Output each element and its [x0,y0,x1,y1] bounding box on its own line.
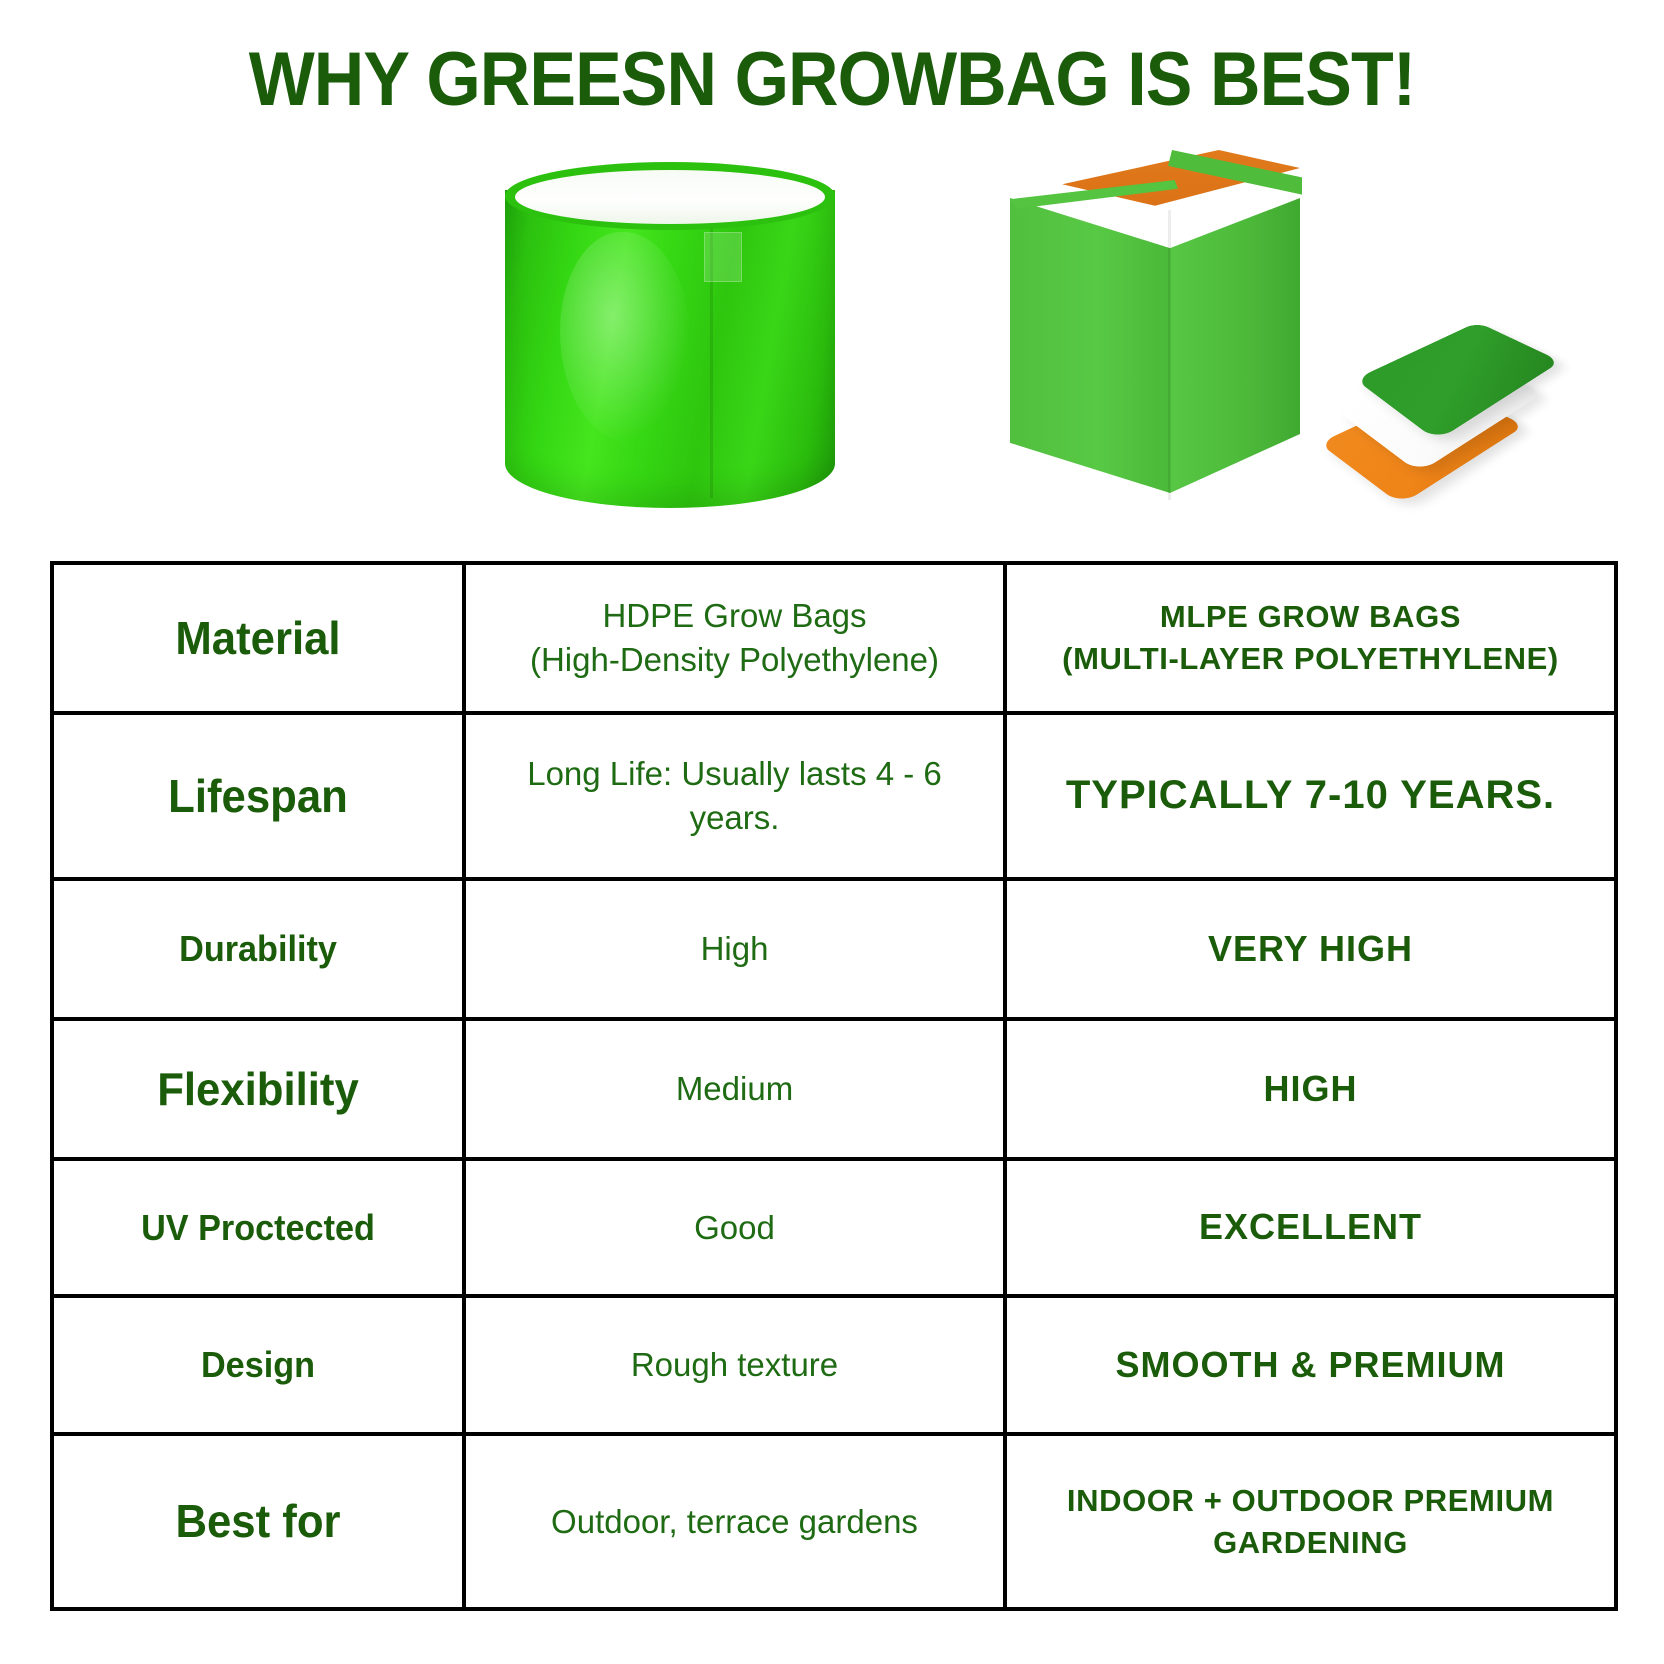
mlpe-value-line1: MLPE GROW BAGS [1021,596,1600,638]
page-title: WHY GREESN GROWBAG IS BEST! [249,42,1415,118]
mlpe-cell-design: SMOOTH & PREMIUM [1005,1296,1616,1434]
table-row-lifespan: Lifespan Long Life: Usually lasts 4 - 6 … [52,713,1616,879]
feature-cell-material: Material [52,563,464,713]
feature-label: Best for [78,1497,439,1545]
square-mlpe-grow-bag-image [1000,150,1305,510]
hdpe-value: High [480,927,989,971]
mlpe-value: EXCELLENT [1021,1203,1600,1251]
feature-cell-durability: Durability [52,879,464,1019]
hdpe-cell-best-for: Outdoor, terrace gardens [464,1434,1005,1609]
mlpe-cell-uv-protected: EXCELLENT [1005,1159,1616,1296]
feature-cell-best-for: Best for [52,1434,464,1609]
hdpe-value-line2: (High-Density Polyethylene) [480,638,989,682]
hdpe-cell-design: Rough texture [464,1296,1005,1434]
mlpe-value-line1: INDOOR + OUTDOOR PREMIUM [1021,1480,1600,1522]
round-hdpe-grow-bag-image [505,162,835,512]
mlpe-cell-lifespan: TYPICALLY 7-10 YEARS. [1005,713,1616,879]
table-row-flexibility: Flexibility Medium HIGH [52,1019,1616,1159]
mlpe-value: SMOOTH & PREMIUM [1021,1341,1600,1389]
grow-bag-inner-lining [515,170,825,224]
feature-label: Flexibility [78,1065,439,1113]
hdpe-cell-durability: High [464,879,1005,1019]
table-row-best-for: Best for Outdoor, terrace gardens INDOOR… [52,1434,1616,1609]
hdpe-value: Rough texture [480,1343,989,1387]
mlpe-value-line2: GARDENING [1021,1522,1600,1564]
hero-images [0,140,1664,560]
mlpe-value: TYPICALLY 7-10 YEARS. [1021,769,1600,823]
hdpe-value-line1: HDPE Grow Bags [480,594,989,638]
title-bar: WHY GREESN GROWBAG IS BEST! [0,42,1664,118]
table-row-uv-protected: UV Proctected Good EXCELLENT [52,1159,1616,1296]
hdpe-value: Good [480,1206,989,1250]
grow-bag-tag [704,232,742,282]
hdpe-cell-material: HDPE Grow Bags (High-Density Polyethylen… [464,563,1005,713]
feature-label: Material [78,614,439,662]
comparison-table: Material HDPE Grow Bags (High-Density Po… [50,561,1618,1611]
feature-label: Lifespan [78,772,439,820]
feature-label: Durability [78,930,439,968]
mlpe-cell-durability: VERY HIGH [1005,879,1616,1019]
table-row-material: Material HDPE Grow Bags (High-Density Po… [52,563,1616,713]
mlpe-cell-best-for: INDOOR + OUTDOOR PREMIUM GARDENING [1005,1434,1616,1609]
multi-layer-fabric-swatches [1328,310,1598,520]
table-row-design: Design Rough texture SMOOTH & PREMIUM [52,1296,1616,1434]
hdpe-value: Outdoor, terrace gardens [480,1500,989,1544]
hdpe-cell-lifespan: Long Life: Usually lasts 4 - 6 years. [464,713,1005,879]
feature-cell-design: Design [52,1296,464,1434]
mlpe-value: VERY HIGH [1021,925,1600,973]
table-row-durability: Durability High VERY HIGH [52,879,1616,1019]
mlpe-value: HIGH [1021,1065,1600,1113]
mlpe-cell-flexibility: HIGH [1005,1019,1616,1159]
hdpe-cell-uv-protected: Good [464,1159,1005,1296]
grow-bag-rim [505,162,835,230]
hdpe-value: Long Life: Usually lasts 4 - 6 years. [480,752,989,839]
feature-label: UV Proctected [78,1209,439,1247]
mlpe-cell-material: MLPE GROW BAGS (MULTI-LAYER POLYETHYLENE… [1005,563,1616,713]
mlpe-front-panel [1010,198,1170,493]
feature-cell-uv-protected: UV Proctected [52,1159,464,1296]
feature-cell-flexibility: Flexibility [52,1019,464,1159]
hdpe-cell-flexibility: Medium [464,1019,1005,1159]
feature-label: Design [78,1346,439,1384]
feature-cell-lifespan: Lifespan [52,713,464,879]
mlpe-side-panel [1170,198,1300,493]
hdpe-value: Medium [480,1067,989,1111]
mlpe-corner-edge [1168,210,1171,500]
mlpe-value-line2: (MULTI-LAYER POLYETHYLENE) [1021,638,1600,680]
